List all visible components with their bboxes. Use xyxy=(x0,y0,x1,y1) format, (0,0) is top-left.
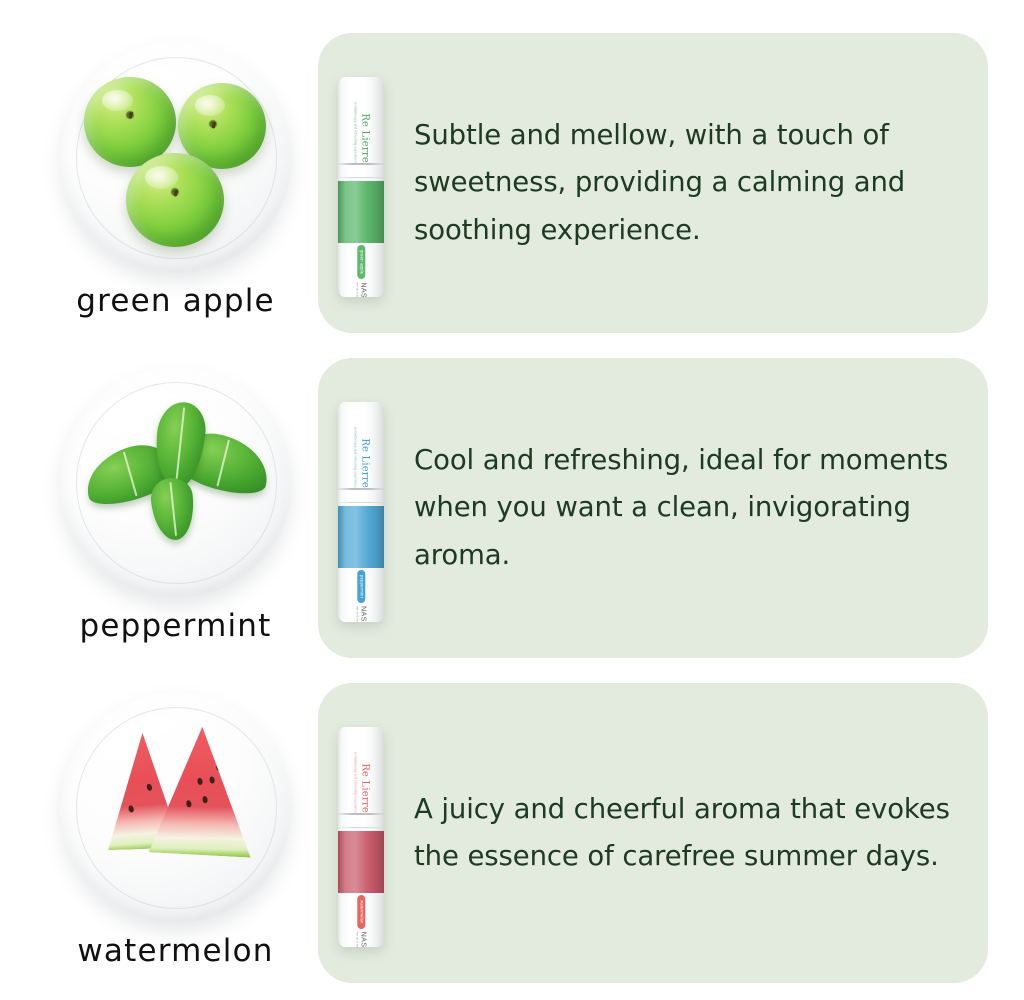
nasal-stick-peppermint: Re Lierre aromatherapy and refreshing ex… xyxy=(338,402,384,622)
apple-highlight xyxy=(195,95,225,116)
stick-foot-block: green apple NASAL STICKS net wt 0.6ml (0… xyxy=(338,245,384,297)
melon-flesh xyxy=(148,724,257,857)
fruit-label-peppermint: peppermint xyxy=(48,608,303,644)
stick-color-band xyxy=(338,506,384,568)
melon-seed xyxy=(209,776,215,784)
stick-seam xyxy=(338,813,384,815)
stick-seam xyxy=(338,488,384,490)
stick-brand-block: Re Lierre aromatherapy and refreshing ex… xyxy=(338,85,384,163)
flavor-card-green-apple: Re Lierre aromatherapy and refreshing ex… xyxy=(318,33,988,333)
plate-green-apple xyxy=(60,41,292,273)
green-apple-icon xyxy=(60,41,292,273)
plate-watermelon xyxy=(60,691,292,923)
stick-foot-block: watermelon NASAL STICKS net wt 0.6ml (0.… xyxy=(338,895,384,947)
fruit-label-green-apple: green apple xyxy=(48,283,303,319)
brand-name: Re Lierre xyxy=(359,735,369,813)
flavor-row-watermelon: watermelon Re Lierre aromatherapy and re… xyxy=(0,683,1024,983)
stick-color-band xyxy=(338,831,384,893)
brand-name: Re Lierre xyxy=(359,410,369,488)
brand-tagline: aromatherapy and refreshing experience xyxy=(353,85,358,163)
description-green-apple: Subtle and mellow, with a touch of sweet… xyxy=(414,33,974,333)
description-text: Cool and refreshing, ideal for moments w… xyxy=(414,437,974,579)
apple-stem-icon xyxy=(125,110,134,119)
flavor-pill-badge: peppermint xyxy=(357,570,365,603)
flavor-row-peppermint: peppermint Re Lierre aromatherapy and re… xyxy=(0,358,1024,658)
stick-seam-secondary xyxy=(338,502,384,503)
stick-seam xyxy=(338,163,384,165)
product-flavor-infographic: green apple Re Lierre aromatherapy and r… xyxy=(0,0,1024,1000)
stick-foot-block: peppermint NASAL STICKS net wt 0.6ml (0.… xyxy=(338,570,384,622)
watermelon-slices-icon xyxy=(60,691,292,923)
description-watermelon: A juicy and cheerful aroma that evokes t… xyxy=(414,683,974,983)
flavor-pill-badge: green apple xyxy=(357,245,365,279)
nasal-stick-watermelon: Re Lierre aromatherapy and refreshing ex… xyxy=(338,727,384,947)
flavor-card-watermelon: Re Lierre aromatherapy and refreshing ex… xyxy=(318,683,988,983)
apple-highlight xyxy=(145,166,178,189)
stick-brand-block: Re Lierre aromatherapy and refreshing ex… xyxy=(338,735,384,813)
stick-label-sub: net wt 0.6ml (0.02 fl.oz) xyxy=(355,606,359,622)
peppermint-leaves-icon xyxy=(60,366,292,598)
fruit-column-peppermint: peppermint xyxy=(48,358,303,658)
stick-color-band xyxy=(338,181,384,243)
plate-peppermint xyxy=(60,366,292,598)
description-peppermint: Cool and refreshing, ideal for moments w… xyxy=(414,358,974,658)
stick-label-main: NASAL STICKS xyxy=(360,932,367,947)
brand-tagline: aromatherapy and refreshing experience xyxy=(353,735,358,813)
description-text: Subtle and mellow, with a touch of sweet… xyxy=(414,112,974,254)
melon-seed xyxy=(215,763,221,771)
description-text: A juicy and cheerful aroma that evokes t… xyxy=(414,786,974,881)
apple-stem-icon xyxy=(208,120,217,129)
nasal-stick-green-apple: Re Lierre aromatherapy and refreshing ex… xyxy=(338,77,384,297)
fruit-column-green-apple: green apple xyxy=(48,33,303,333)
flavor-card-peppermint: Re Lierre aromatherapy and refreshing ex… xyxy=(318,358,988,658)
fruit-column-watermelon: watermelon xyxy=(48,683,303,983)
flavor-row-green-apple: green apple Re Lierre aromatherapy and r… xyxy=(0,33,1024,333)
stick-label-main: NASAL STICKS xyxy=(360,282,367,297)
apple-stem-icon xyxy=(170,188,179,197)
apple-highlight xyxy=(102,90,133,112)
flavor-pill-badge: watermelon xyxy=(357,895,365,929)
stick-label-main: NASAL STICKS xyxy=(360,606,367,622)
stick-brand-block: Re Lierre aromatherapy and refreshing ex… xyxy=(338,410,384,488)
stick-seam-secondary xyxy=(338,827,384,828)
stick-label-sub: net wt 0.6ml (0.02 fl.oz) xyxy=(355,932,359,947)
stick-label-sub: net wt 0.6ml (0.02 fl.oz) xyxy=(355,282,359,297)
brand-name: Re Lierre xyxy=(359,85,369,163)
stick-seam-secondary xyxy=(338,177,384,178)
fruit-label-watermelon: watermelon xyxy=(48,933,303,969)
brand-tagline: aromatherapy and refreshing experience xyxy=(353,410,358,488)
